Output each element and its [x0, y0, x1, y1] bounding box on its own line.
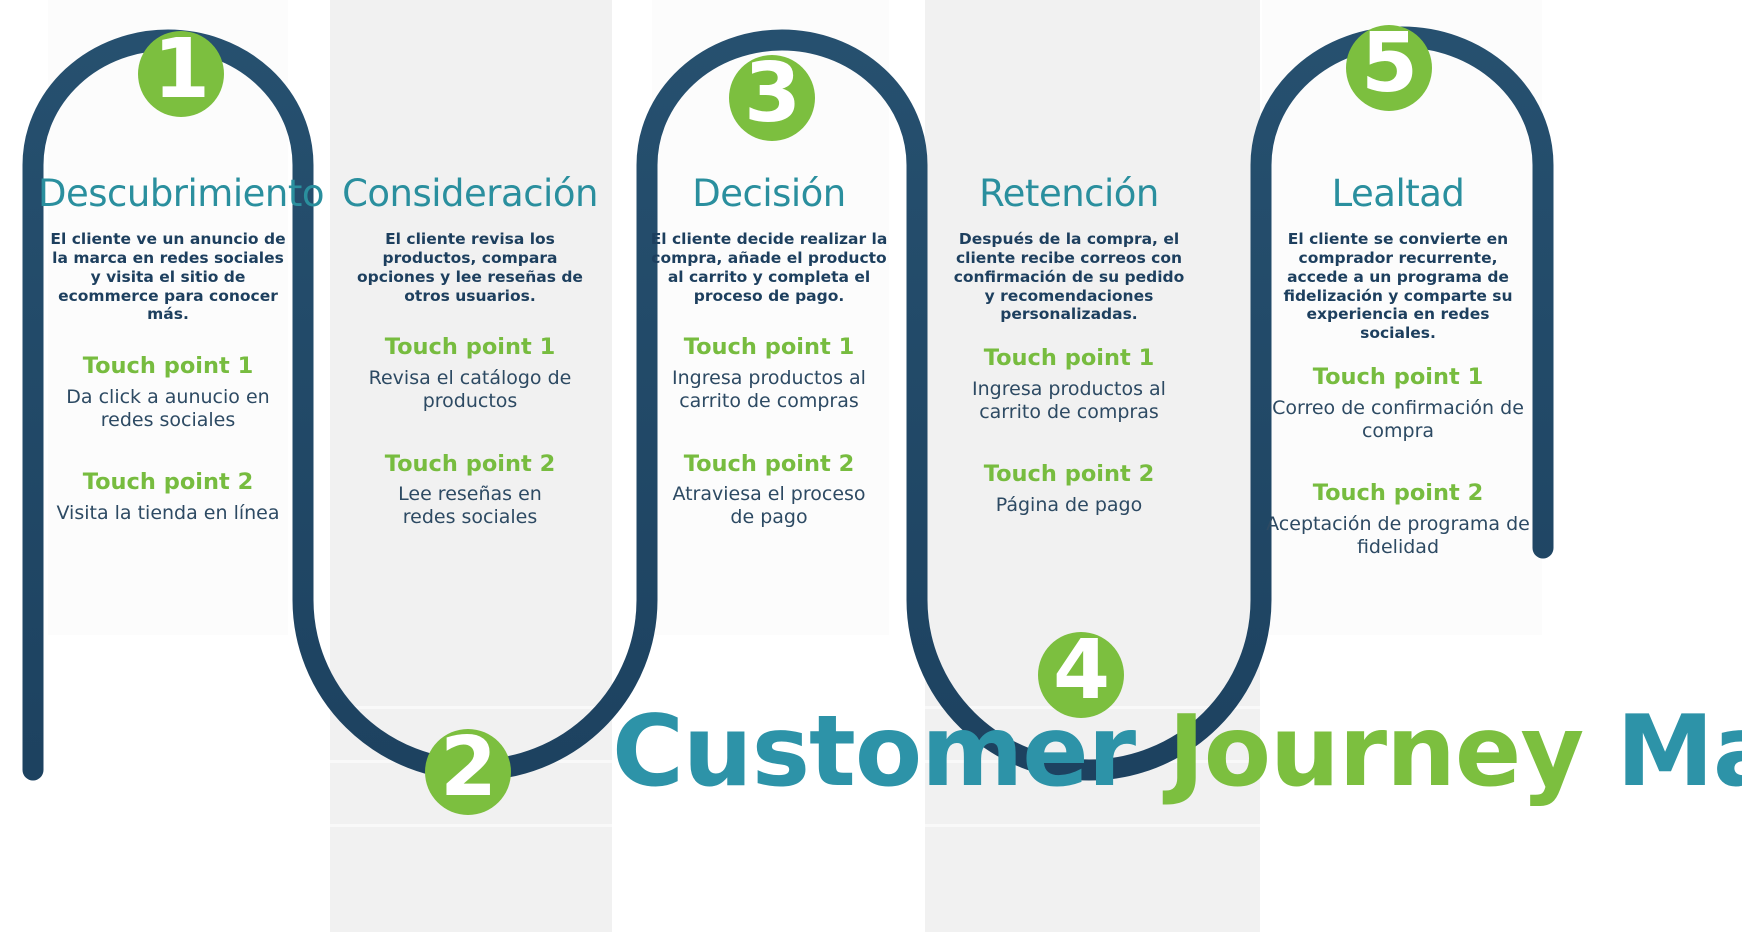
- touchpoint-label: Touch point 1: [945, 346, 1193, 371]
- touchpoint-5-2[interactable]: Touch point 2 Aceptación de programa de …: [1262, 481, 1534, 559]
- touchpoint-text: Revisa el catálogo de productos: [338, 367, 602, 413]
- touchpoint-label: Touch point 1: [338, 335, 602, 360]
- touchpoint-3-2[interactable]: Touch point 2 Atraviesa el proceso de pa…: [640, 452, 898, 530]
- stage-title-5: Lealtad: [1262, 175, 1534, 214]
- touchpoint-2-1[interactable]: Touch point 1 Revisa el catálogo de prod…: [338, 335, 602, 413]
- touchpoint-label: Touch point 2: [338, 452, 602, 477]
- touchpoint-4-1[interactable]: Touch point 1 Ingresa productos al carri…: [945, 346, 1193, 424]
- touchpoint-label: Touch point 2: [1262, 481, 1534, 506]
- touchpoint-text: Página de pago: [945, 494, 1193, 517]
- touchpoint-text: Aceptación de programa de fidelidad: [1262, 513, 1534, 559]
- touchpoint-label: Touch point 1: [1262, 365, 1534, 390]
- stage-description-1: El cliente ve un anuncio de la marca en …: [38, 230, 298, 325]
- touchpoint-text: Ingresa productos al carrito de compras: [640, 367, 898, 413]
- touchpoint-4-2[interactable]: Touch point 2 Página de pago: [945, 462, 1193, 517]
- touchpoint-text: Lee reseñas en redes sociales: [338, 483, 602, 529]
- touchpoint-text: Atraviesa el proceso de pago: [640, 483, 898, 529]
- stage-title-4: Retención: [945, 175, 1193, 214]
- stage-description-4: Después de la compra, el cliente recibe …: [945, 230, 1193, 325]
- stage-card-2[interactable]: Consideración El cliente revisa los prod…: [338, 175, 602, 530]
- stage-number-3: 3: [744, 53, 800, 135]
- stage-badge-1: 1: [138, 31, 224, 117]
- journey-map-canvas: 1 2 3 4 5 Descubrimiento El cliente ve u…: [0, 0, 1742, 932]
- title-word-journey: Journey: [1168, 695, 1583, 809]
- stage-title-3: Decisión: [640, 175, 898, 214]
- page-title: Customer Journey Map: [612, 703, 1742, 801]
- touchpoint-text: Ingresa productos al carrito de compras: [945, 378, 1193, 424]
- stage-title-2: Consideración: [338, 175, 602, 214]
- stage-card-4[interactable]: Retención Después de la compra, el clien…: [945, 175, 1193, 517]
- touchpoint-label: Touch point 2: [640, 452, 898, 477]
- stage-description-3: El cliente decide realizar la compra, añ…: [640, 230, 898, 306]
- touchpoint-label: Touch point 2: [38, 470, 298, 495]
- touchpoint-1-2[interactable]: Touch point 2 Visita la tienda en línea: [38, 470, 298, 525]
- title-word-customer: Customer: [612, 695, 1135, 809]
- stage-badge-5: 5: [1346, 25, 1432, 111]
- touchpoint-1-1[interactable]: Touch point 1 Da click a aunucio en rede…: [38, 354, 298, 432]
- touchpoint-text: Da click a aunucio en redes sociales: [38, 386, 298, 432]
- touchpoint-text: Correo de confirmación de compra: [1262, 397, 1534, 443]
- stage-card-5[interactable]: Lealtad El cliente se convierte en compr…: [1262, 175, 1534, 559]
- touchpoint-label: Touch point 2: [945, 462, 1193, 487]
- touchpoint-2-2[interactable]: Touch point 2 Lee reseñas en redes socia…: [338, 452, 602, 530]
- stage-title-1: Descubrimiento: [38, 175, 298, 214]
- touchpoint-3-1[interactable]: Touch point 1 Ingresa productos al carri…: [640, 335, 898, 413]
- touchpoint-label: Touch point 1: [38, 354, 298, 379]
- title-word-map: Map: [1616, 695, 1742, 809]
- stage-badge-3: 3: [729, 55, 815, 141]
- touchpoint-text: Visita la tienda en línea: [38, 502, 298, 525]
- stage-description-5: El cliente se convierte en comprador rec…: [1262, 230, 1534, 343]
- stage-badge-2: 2: [425, 729, 511, 815]
- stage-card-1[interactable]: Descubrimiento El cliente ve un anuncio …: [38, 175, 298, 525]
- stage-number-5: 5: [1361, 23, 1417, 105]
- touchpoint-label: Touch point 1: [640, 335, 898, 360]
- stage-description-2: El cliente revisa los productos, compara…: [338, 230, 602, 306]
- stage-number-1: 1: [153, 29, 209, 111]
- stage-number-2: 2: [440, 727, 496, 809]
- stage-card-3[interactable]: Decisión El cliente decide realizar la c…: [640, 175, 898, 530]
- touchpoint-5-1[interactable]: Touch point 1 Correo de confirmación de …: [1262, 365, 1534, 443]
